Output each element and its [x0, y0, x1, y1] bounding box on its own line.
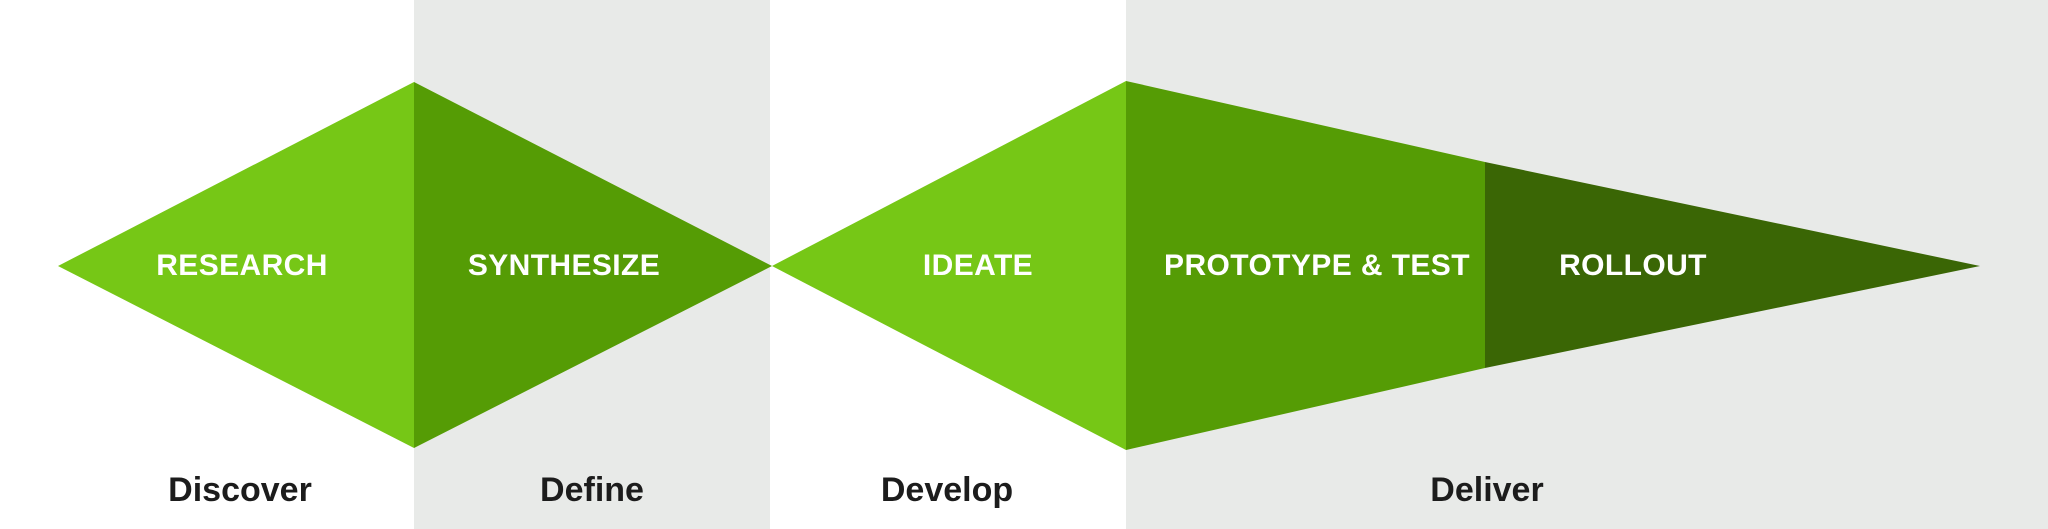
- double-diamond-diagram: RESEARCH SYNTHESIZE IDEATE PROTOTYPE & T…: [0, 0, 2048, 529]
- stage-label-research: RESEARCH: [156, 249, 328, 282]
- phase-label-discover: Discover: [168, 471, 312, 509]
- diagram-canvas: RESEARCH SYNTHESIZE IDEATE PROTOTYPE & T…: [0, 0, 2048, 529]
- stage-label-synthesize: SYNTHESIZE: [468, 249, 660, 282]
- stage-label-prototype-test: PROTOTYPE & TEST: [1164, 249, 1470, 282]
- stage-label-ideate: IDEATE: [923, 249, 1033, 282]
- phase-label-define: Define: [540, 471, 644, 509]
- stage-label-rollout: ROLLOUT: [1559, 249, 1707, 282]
- phase-label-develop: Develop: [881, 471, 1013, 509]
- phase-label-deliver: Deliver: [1430, 471, 1543, 509]
